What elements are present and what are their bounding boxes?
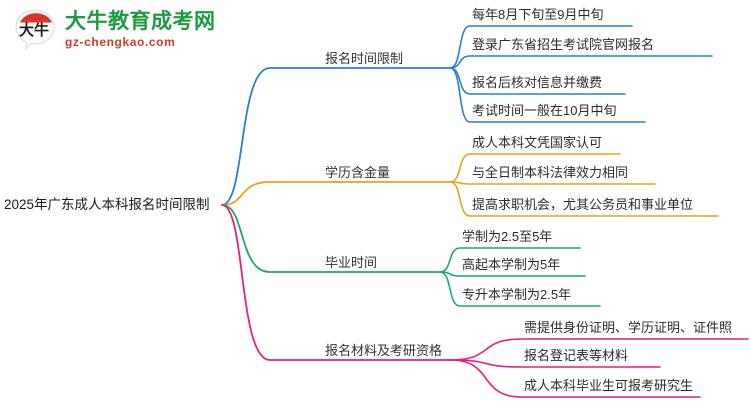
mindmap-leaf-b1-c3[interactable]: 报名后核对信息并缴费 [472,76,602,90]
mindmap-leaf-b4-c1[interactable]: 需提供身份证明、学历证明、证件照 [524,321,732,335]
mindmap-leaf-b2-c1[interactable]: 成人本科文凭国家认可 [472,136,602,150]
mindmap-leaf-b2-c3[interactable]: 提高求职机会，尤其公务员和事业单位 [472,198,693,212]
mindmap-leaf-b1-c4[interactable]: 考试时间一般在10月中旬 [472,104,616,118]
mindmap-root-node[interactable]: 2025年广东成人本科报名时间限制 [4,198,210,213]
mindmap-branch-baomingcailiaojikaoyanzige[interactable]: 报名材料及考研资格 [325,344,442,358]
mindmap-leaf-b3-c3[interactable]: 专升本学制为2.5年 [462,288,571,302]
mindmap-branch-baomingshijianxianzhi[interactable]: 报名时间限制 [325,52,403,66]
mindmap-leaf-b1-c2[interactable]: 登录广东省招生考试院官网报名 [472,38,654,52]
site-logo: 大牛 大牛教育成考网 gz-chengkao.com [14,8,216,50]
mindmap-branch-xuelihanjinliang[interactable]: 学历含金量 [325,166,390,180]
logo-domain: gz-chengkao.com [65,36,216,48]
logo-mark-icon: 大牛 [14,8,58,50]
svg-text:大牛: 大牛 [19,21,49,39]
mindmap-leaf-b4-c2[interactable]: 报名登记表等材料 [524,349,628,363]
mindmap-leaf-b3-c1[interactable]: 学制为2.5至5年 [462,230,552,244]
mindmap-canvas: 大牛 大牛教育成考网 gz-chengkao.com 2025年广东成人本科报名… [0,0,750,410]
mindmap-branch-biyeshijian[interactable]: 毕业时间 [325,256,377,270]
mindmap-leaf-b4-c3[interactable]: 成人本科毕业生可报考研究生 [524,379,693,393]
logo-title: 大牛教育成考网 [65,11,216,32]
mindmap-leaf-b2-c2[interactable]: 与全日制本科法律效力相同 [472,166,628,180]
mindmap-leaf-b3-c2[interactable]: 高起本学制为5年 [462,258,560,272]
mindmap-leaf-b1-c1[interactable]: 每年8月下旬至9月中旬 [472,8,603,22]
logo-wordmark: 大牛教育成考网 gz-chengkao.com [65,11,216,48]
